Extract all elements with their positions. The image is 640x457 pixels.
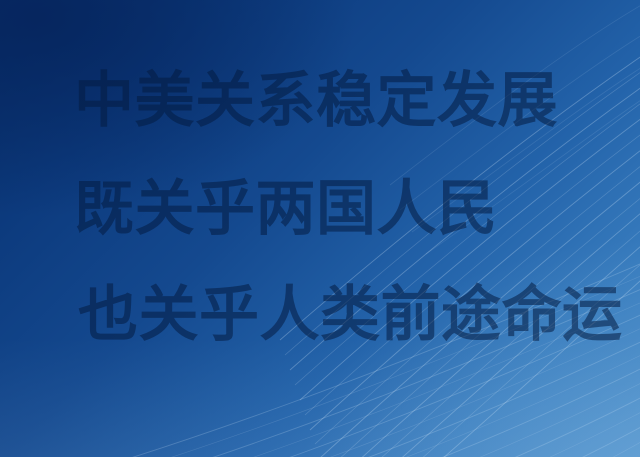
headline-line-1: 中美关系稳定发展 — [72, 68, 556, 130]
poster-graphic: 中美关系稳定发展 既关乎两国人民 也关乎人类前途命运 中美关系稳定发展 既关乎两… — [0, 0, 640, 457]
headline-block: 中美关系稳定发展 既关乎两国人民 也关乎人类前途命运 中美关系稳定发展 既关乎两… — [0, 0, 640, 457]
headline-line-3: 也关乎人类前途命运 — [76, 282, 621, 344]
headline-line-2: 既关乎两国人民 — [72, 176, 496, 238]
